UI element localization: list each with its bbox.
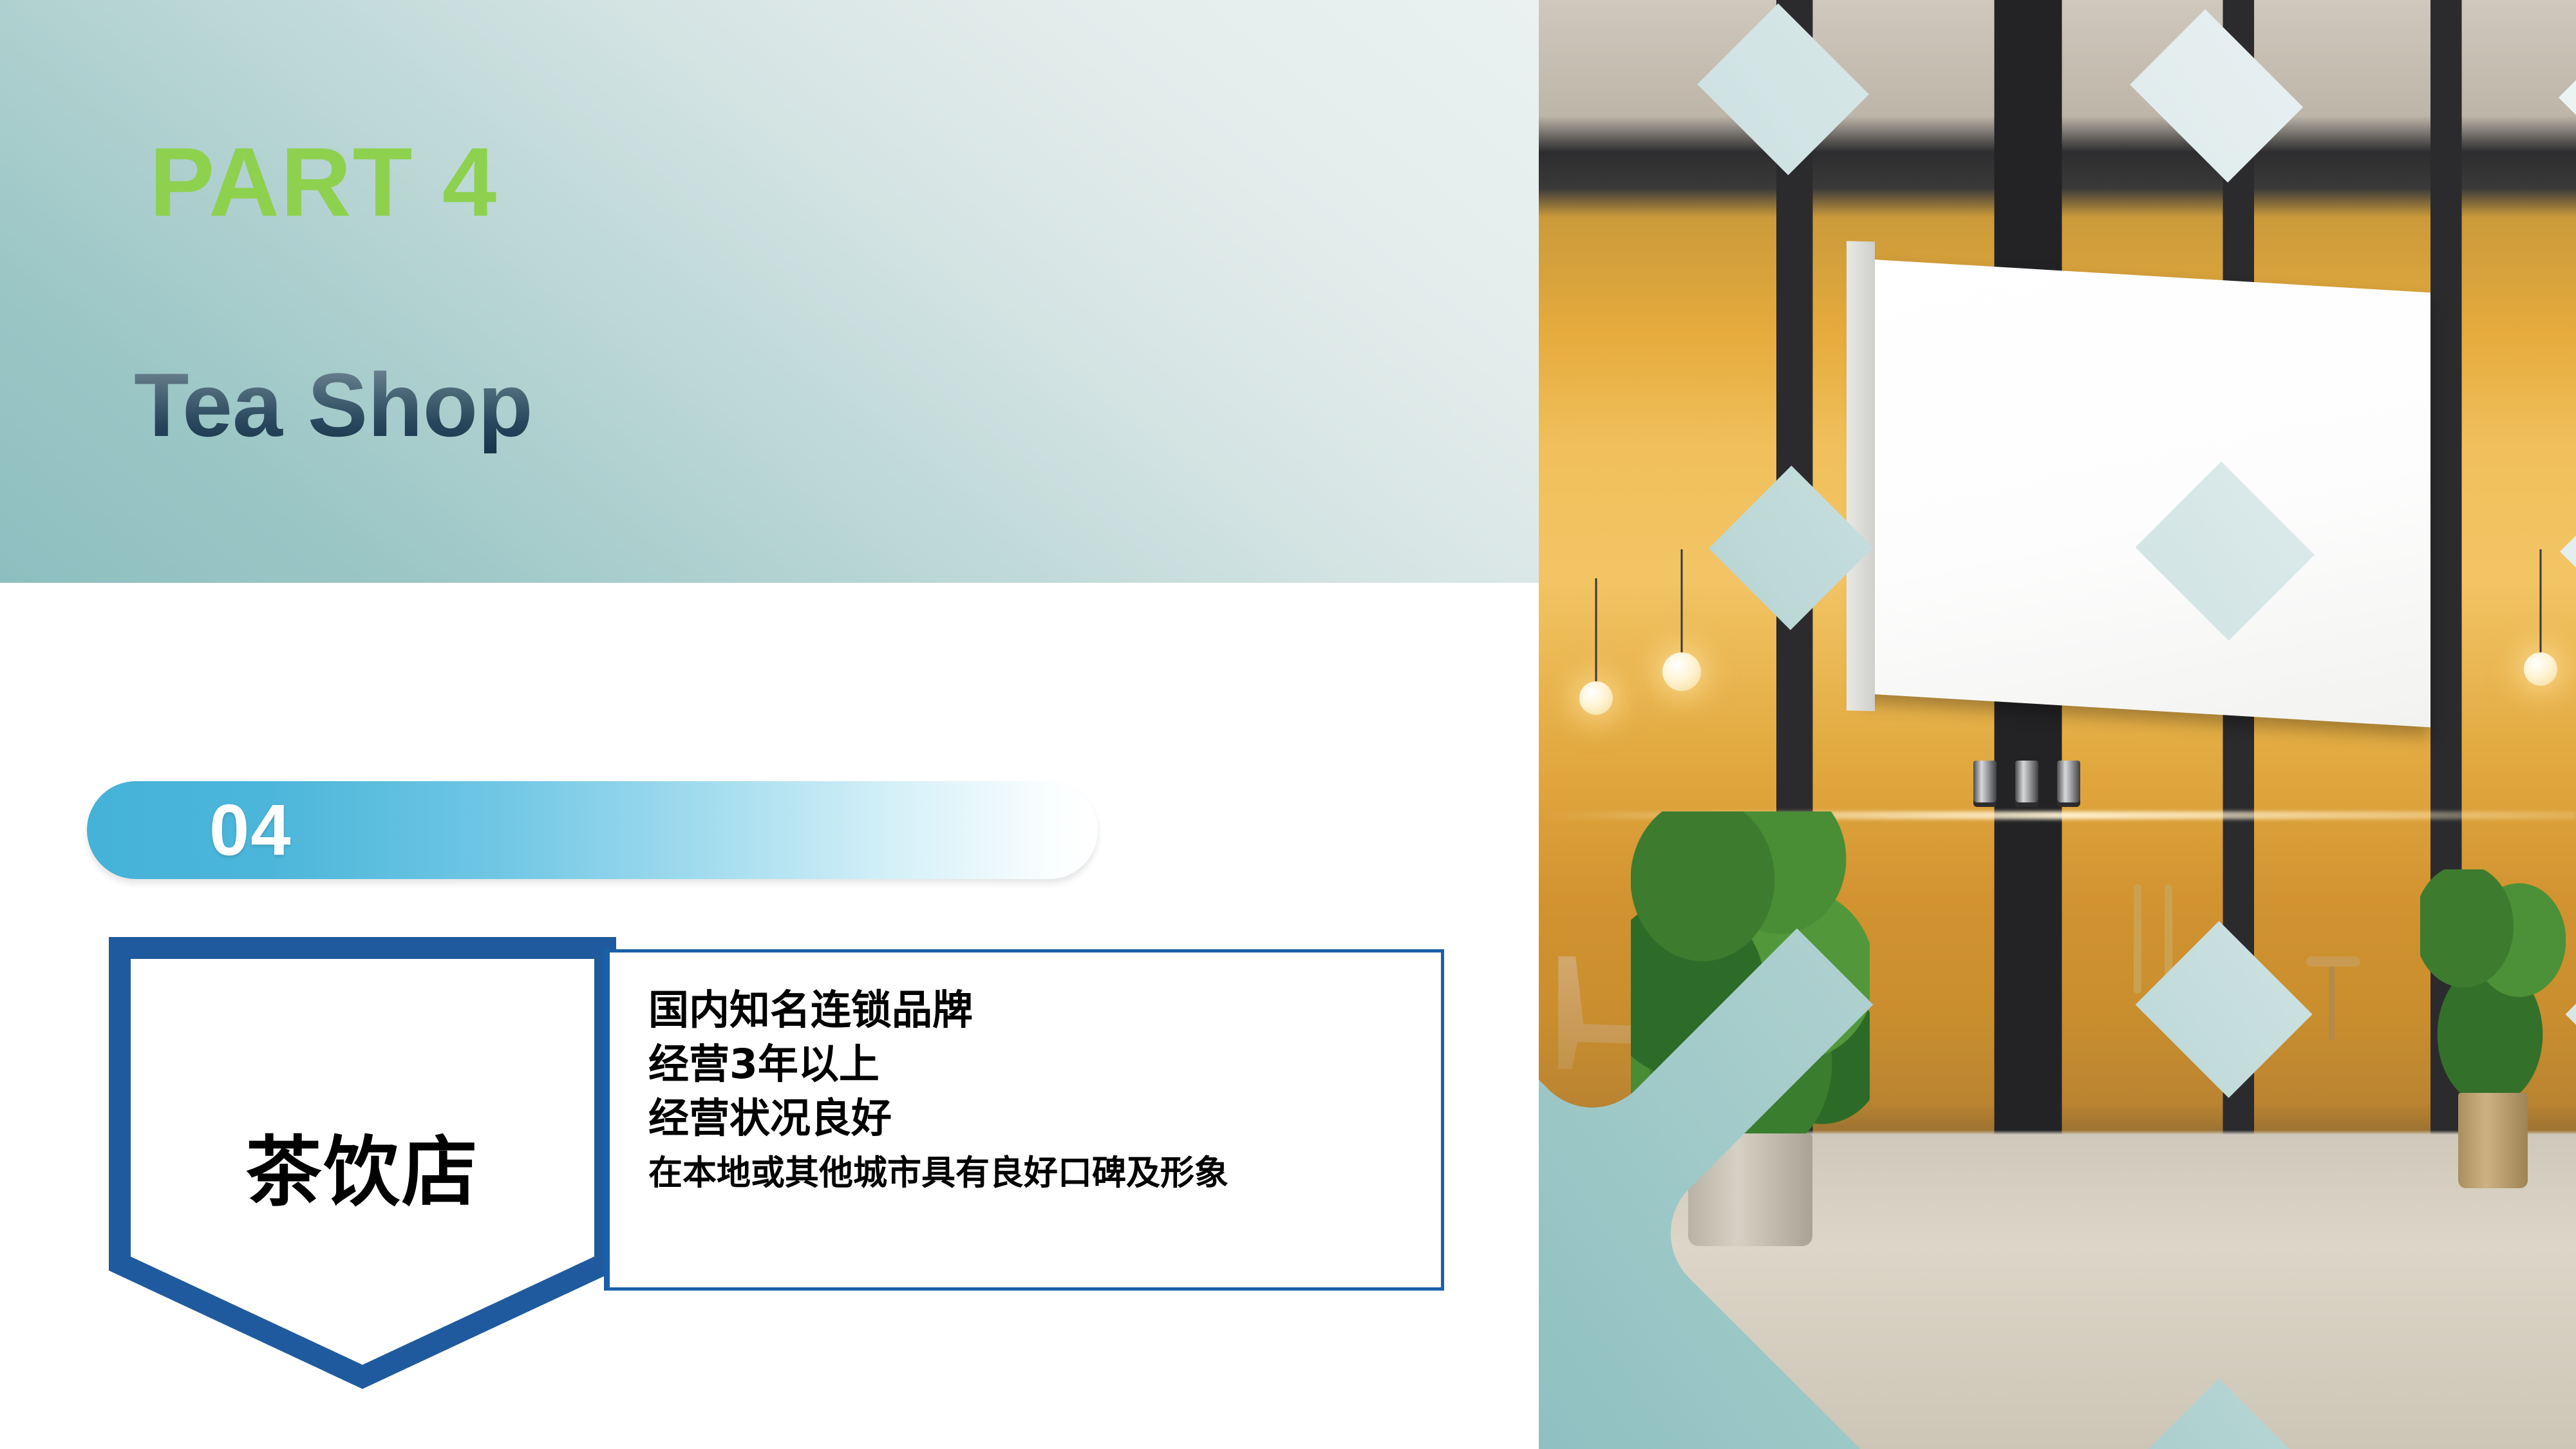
criteria-list: 国内知名连锁品牌 经营3年以上 经营状况良好 在本地或其他城市具有良好口碑及形象 — [648, 983, 1415, 1196]
door-handle — [2165, 884, 2172, 994]
storefront-photo-panel — [1537, 0, 2576, 1449]
criteria-box: 国内知名连锁品牌 经营3年以上 经营状况良好 在本地或其他城市具有良好口碑及形象 — [604, 949, 1444, 1291]
potted-plant — [1631, 811, 1870, 1246]
header-band: PART 4 Tea Shop — [0, 0, 1539, 583]
pendant-lamp-icon — [1662, 652, 1701, 691]
potted-plant-secondary — [2420, 869, 2566, 1188]
shield-label: 茶饮店 — [108, 1110, 617, 1220]
part-label: PART 4 — [149, 133, 498, 231]
coffee-urn — [2057, 761, 2080, 807]
list-item-footnote: 在本地或其他城市具有良好口碑及形象 — [648, 1151, 1415, 1196]
bar-stool — [2306, 956, 2360, 1040]
page-title: Tea Shop — [134, 356, 533, 453]
list-item: 国内知名连锁品牌 — [648, 983, 1415, 1037]
coffee-urn — [2015, 761, 2038, 807]
slide-root: PART 4 Tea Shop 04 茶饮店 国内知名连锁品牌 经营3年以上 经… — [0, 0, 2576, 1449]
plant-pot — [1688, 1133, 1812, 1247]
section-number: 04 — [209, 789, 292, 872]
coffee-urn — [1973, 761, 1997, 807]
door-handle — [2134, 884, 2141, 994]
pendant-lamp-icon — [1579, 681, 1613, 715]
storefront-photo-image — [1537, 0, 2576, 1449]
shield-badge: 茶饮店 — [108, 942, 617, 1386]
list-item: 经营3年以上 — [648, 1037, 1415, 1092]
plant-leaves — [1631, 811, 1870, 1151]
list-item: 经营状况良好 — [648, 1092, 1415, 1146]
shop-signboard — [1859, 258, 2430, 727]
section-number-pill: 04 — [87, 781, 1098, 879]
plant-leaves — [2420, 869, 2566, 1105]
plant-pot — [2458, 1093, 2528, 1189]
pendant-lamp-icon — [2524, 652, 2557, 686]
